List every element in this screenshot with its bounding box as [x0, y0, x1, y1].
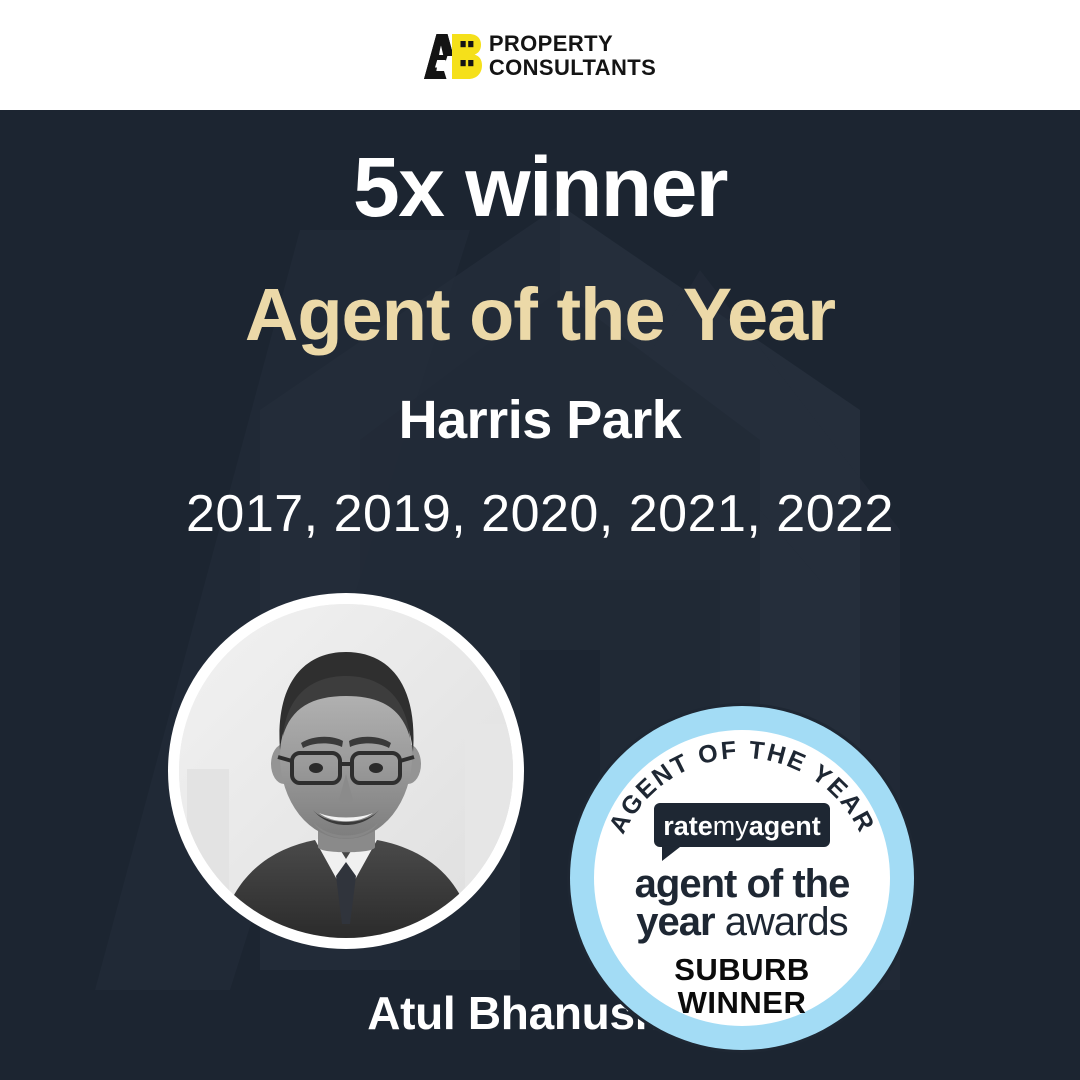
logo-wordmark: PROPERTY CONSULTANTS: [489, 33, 656, 79]
badge-title-awards: awards: [725, 900, 848, 944]
rate-my-agent-award-badge: AGENT OF THE YEAR ratemyagent agent of t…: [566, 702, 918, 1054]
house-watermark-icon: [0, 110, 1080, 1080]
logo-word-property: PROPERTY: [489, 33, 656, 55]
badge-winner-line1: SUBURB: [674, 952, 810, 987]
agent-portrait-image: [179, 604, 513, 938]
ab-monogram-icon: [424, 32, 482, 80]
award-title-text: Agent of the Year: [0, 278, 1080, 352]
poster-canvas: PROPERTY CONSULTANTS 5x winner Agent of: [0, 0, 1080, 1080]
dark-panel: 5x winner Agent of the Year Harris Park …: [0, 110, 1080, 1080]
header-band: PROPERTY CONSULTANTS: [0, 0, 1080, 110]
badge-winner-line2: WINNER: [678, 985, 807, 1020]
badge-title-line2: year awards: [636, 900, 847, 944]
rma-rate: rate: [663, 811, 713, 841]
suburb-name-text: Harris Park: [0, 393, 1080, 447]
award-years-text: 2017, 2019, 2020, 2021, 2022: [0, 488, 1080, 540]
agent-portrait: [168, 593, 524, 949]
badge-title-year: year: [636, 900, 715, 944]
ab-property-consultants-logo: PROPERTY CONSULTANTS: [424, 32, 656, 80]
winner-count-text: 5x winner: [0, 145, 1080, 229]
rma-agent: agent: [749, 811, 821, 841]
svg-text:ratemyagent: ratemyagent: [663, 811, 821, 841]
rma-my: my: [713, 811, 749, 841]
logo-word-consultants: CONSULTANTS: [489, 57, 656, 79]
agent-name-text: Atul Bhanushali: [0, 990, 1080, 1036]
